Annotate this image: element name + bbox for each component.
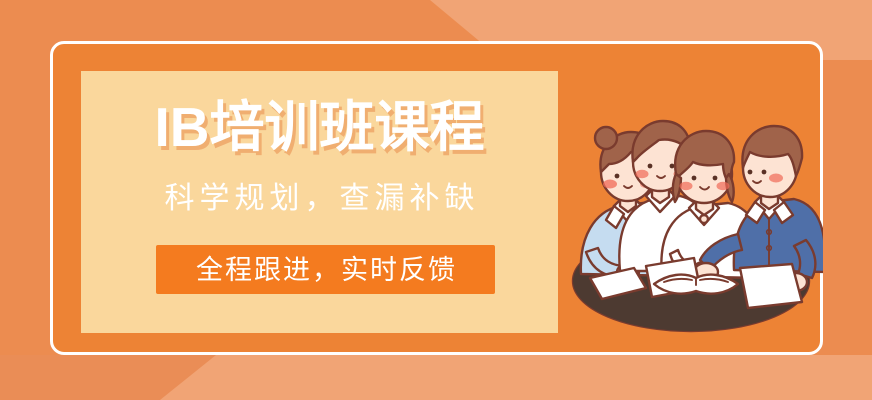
cta-button-label: 全程跟进，实时反馈	[194, 255, 457, 285]
subtitle: 科学规划，查漏补缺	[81, 181, 558, 217]
content-panel: IB培训班课程 科学规划，查漏补缺 全程跟进，实时反馈	[81, 71, 558, 333]
banner-frame: IB培训班课程 科学规划，查漏补缺 全程跟进，实时反馈 .ol { stroke…	[50, 41, 823, 355]
text-block: IB培训班课程 科学规划，查漏补缺 全程跟进，实时反馈	[81, 71, 558, 333]
background-diagonal-bottom	[0, 355, 872, 400]
page-title: IB培训班课程	[81, 98, 558, 156]
background-diagonal-bottom-left	[0, 355, 300, 400]
students-illustration: .ol { stroke:#7a3b2e; stroke-width:2.4; …	[558, 56, 823, 346]
cta-button[interactable]: 全程跟进，实时反馈	[156, 245, 495, 294]
promo-banner: IB培训班课程 科学规划，查漏补缺 全程跟进，实时反馈 .ol { stroke…	[0, 0, 872, 400]
